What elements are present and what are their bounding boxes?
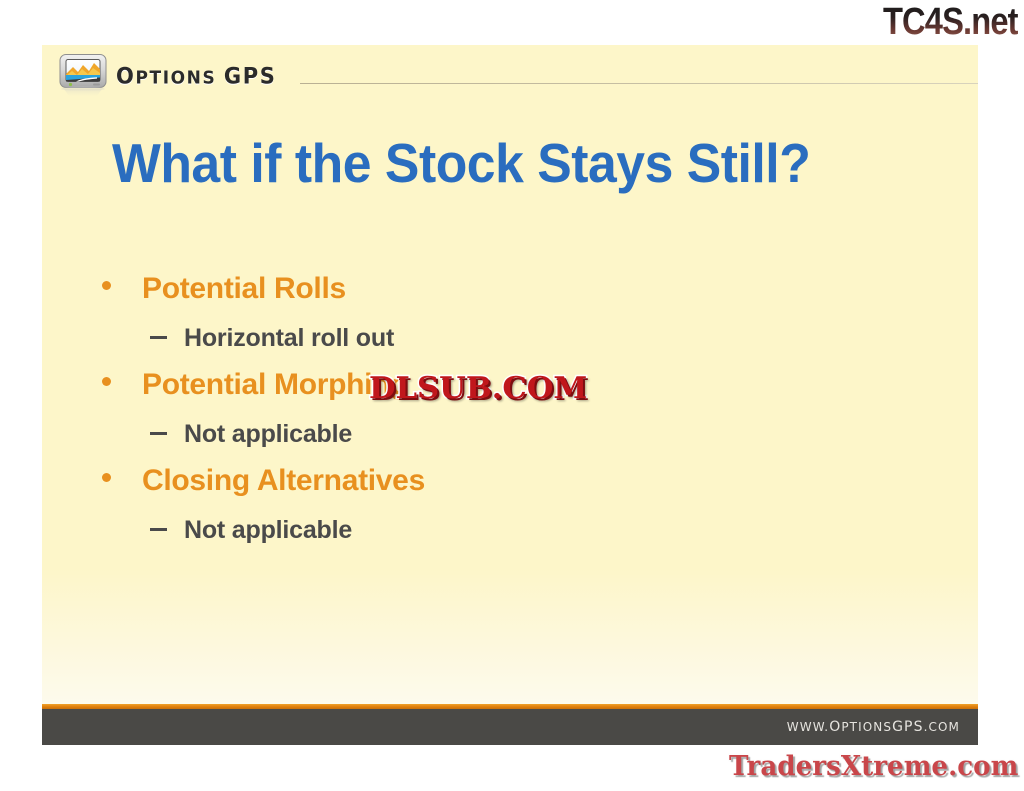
page-title: What if the Stock Stays Still? [112, 133, 892, 193]
header-divider [300, 83, 978, 84]
list-item-sub: Not applicable [98, 507, 948, 555]
dlsub-watermark: DLSUB.COM [369, 372, 587, 406]
list-item: Potential Rolls [98, 267, 948, 315]
slide-background-gradient [42, 569, 978, 709]
slide-header: OPTIONS GPS [42, 45, 978, 107]
list-item-sub: Horizontal roll out [98, 315, 948, 363]
sub-bullet-label: Not applicable [184, 411, 352, 457]
bullet-label: Potential Rolls [142, 267, 346, 311]
bullet-dot-icon [102, 281, 111, 290]
brand-title: OPTIONS GPS [116, 63, 276, 88]
footer-url-label: WWW.OPTIONSGPS.COM [787, 719, 960, 735]
dash-marker-icon [150, 528, 167, 531]
bullet-dot-icon [102, 377, 111, 386]
slide-viewer: TC4S.net [0, 0, 1024, 791]
bullet-dot-icon [102, 473, 111, 482]
gps-device-chart-icon [58, 53, 110, 99]
dash-marker-icon [150, 432, 167, 435]
bullet-list: Potential Rolls Horizontal roll out Pote… [98, 267, 948, 555]
tc4s-watermark: TC4S.net [883, 2, 1018, 42]
sub-bullet-label: Not applicable [184, 507, 352, 553]
list-item: Closing Alternatives [98, 459, 948, 507]
dash-marker-icon [150, 336, 167, 339]
slide-footer: WWW.OPTIONSGPS.COM [42, 709, 978, 745]
bullet-label: Closing Alternatives [142, 459, 425, 503]
sub-bullet-label: Horizontal roll out [184, 315, 394, 361]
tradersxtreme-watermark: TradersXtreme.com [729, 752, 1018, 782]
list-item-sub: Not applicable [98, 411, 948, 459]
